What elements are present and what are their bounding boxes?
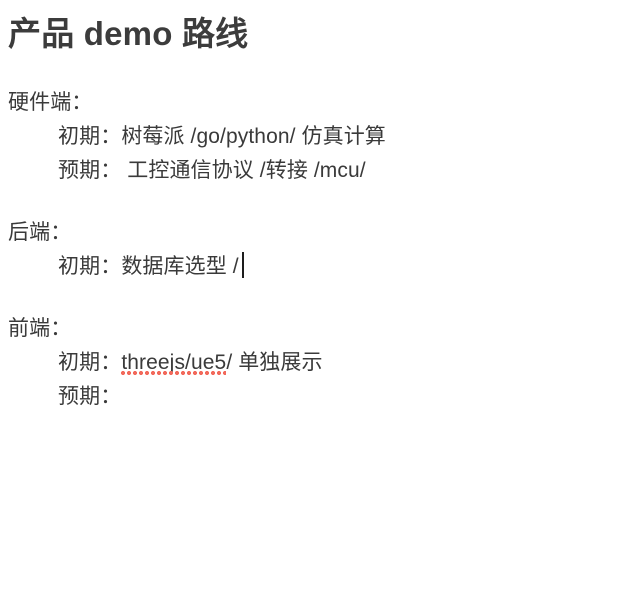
section-heading-hardware: 硬件端：: [0, 86, 626, 120]
list-item[interactable]: 初期：数据库选型 /: [0, 250, 626, 284]
document-body[interactable]: 硬件端： 初期：树莓派 /go/python/ 仿真计算 预期： 工控通信协议 …: [0, 86, 626, 414]
list-item[interactable]: 预期：: [0, 380, 626, 414]
row-label: 预期：: [58, 159, 121, 182]
row-value-tail: / 单独展示: [226, 351, 322, 374]
row-label: 预期：: [58, 385, 121, 408]
page-title: 产品 demo 路线: [8, 11, 248, 57]
list-item[interactable]: 初期：threejs/ue5/ 单独展示: [0, 346, 626, 380]
section-heading-frontend: 前端：: [0, 312, 626, 346]
section-spacer: [0, 284, 626, 312]
spellcheck-misspelled-run[interactable]: threejs/ue5: [121, 351, 226, 374]
section-heading-backend: 后端：: [0, 216, 626, 250]
row-value: 数据库选型 /: [121, 255, 238, 278]
row-value: 树莓派 /go/python/ 仿真计算: [121, 125, 386, 148]
row-label: 初期：: [58, 351, 121, 374]
document-canvas[interactable]: 产品 demo 路线 硬件端： 初期：树莓派 /go/python/ 仿真计算 …: [0, 0, 626, 594]
list-item[interactable]: 预期： 工控通信协议 /转接 /mcu/: [0, 154, 626, 188]
list-item[interactable]: 初期：树莓派 /go/python/ 仿真计算: [0, 120, 626, 154]
row-label: 初期：: [58, 125, 121, 148]
section-spacer: [0, 188, 626, 216]
row-value: 工控通信协议 /转接 /mcu/: [121, 159, 365, 182]
text-cursor-caret: [242, 252, 244, 278]
row-label: 初期：: [58, 255, 121, 278]
